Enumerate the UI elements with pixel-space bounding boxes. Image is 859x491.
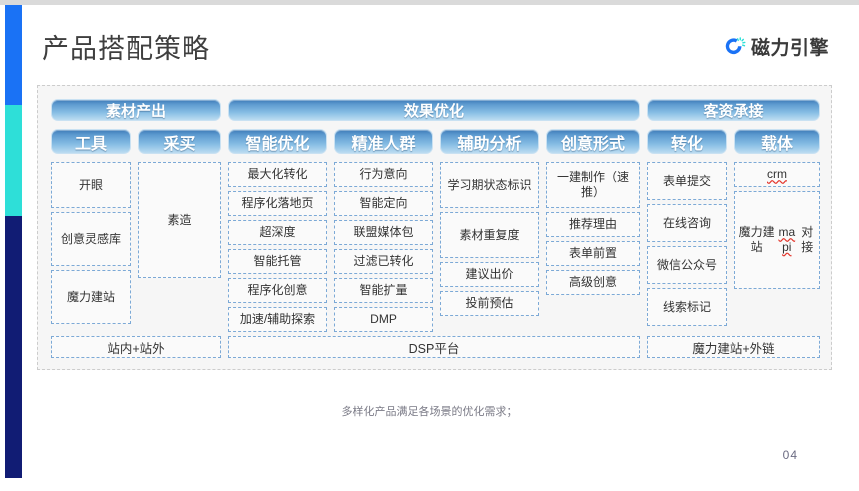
- group-header-material-output[interactable]: 素材产出: [51, 99, 221, 121]
- item-column-tools: 开眼创意灵感库魔力建站: [51, 162, 131, 324]
- matrix-item[interactable]: 微信公众号: [647, 246, 727, 284]
- subheader-creative-format[interactable]: 创意形式: [546, 129, 640, 154]
- slide-caption: 多样化产品满足各场景的优化需求；: [0, 403, 859, 419]
- matrix-item[interactable]: 一建制作（速推）: [546, 162, 640, 208]
- matrix-item[interactable]: 学习期状态标识: [440, 162, 539, 208]
- matrix-item[interactable]: 表单提交: [647, 162, 727, 200]
- matrix-item[interactable]: 素造: [138, 162, 221, 278]
- matrix-item[interactable]: 魔力建站mapi对接: [734, 191, 820, 289]
- matrix-item[interactable]: 过滤已转化: [334, 249, 433, 274]
- page-title: 产品搭配策略: [42, 27, 210, 66]
- item-column-carrier: crm魔力建站mapi对接: [734, 162, 820, 289]
- strategy-matrix-panel: 素材产出 效果优化 客资承接 工具 采买 智能优化 精准人群 辅助分析 创意形式…: [37, 85, 832, 370]
- slide-canvas: 产品搭配策略 磁力引擎 素材产出 效果优化 客资承接 工具 采买 智能优化 精准…: [0, 0, 859, 491]
- spellcheck-underlined-text: mapi: [776, 225, 797, 254]
- page-number: 04: [783, 448, 798, 462]
- matrix-item[interactable]: 智能扩量: [334, 278, 433, 303]
- item-column-precise-audience: 行为意向智能定向联盟媒体包过滤已转化智能扩量DMP: [334, 162, 433, 332]
- matrix-item[interactable]: DMP: [334, 307, 433, 332]
- kuaishou-ad-logo-icon: [723, 35, 746, 58]
- matrix-item[interactable]: crm: [734, 162, 820, 187]
- subheader-carrier[interactable]: 载体: [734, 129, 820, 154]
- matrix-item[interactable]: 表单前置: [546, 241, 640, 266]
- matrix-item[interactable]: 加速/辅助探索: [228, 307, 327, 332]
- matrix-item[interactable]: 线索标记: [647, 288, 727, 326]
- matrix-item[interactable]: 最大化转化: [228, 162, 327, 187]
- matrix-item[interactable]: 魔力建站: [51, 270, 131, 324]
- footer-bar-moli-site-external-link[interactable]: 魔力建站+外链: [647, 336, 820, 358]
- matrix-item[interactable]: 联盟媒体包: [334, 220, 433, 245]
- accent-bar-blue: [5, 5, 22, 105]
- matrix-item[interactable]: 智能定向: [334, 191, 433, 216]
- subheader-smart-optimization[interactable]: 智能优化: [228, 129, 327, 154]
- accent-bar-cyan: [5, 105, 22, 216]
- brand-lockup: 磁力引擎: [723, 33, 829, 60]
- slide-top-strip: [0, 0, 859, 5]
- accent-bar-navy: [5, 216, 22, 478]
- group-header-performance-optimization[interactable]: 效果优化: [228, 99, 640, 121]
- footer-bar-onsite-offsite[interactable]: 站内+站外: [51, 336, 221, 358]
- matrix-item[interactable]: 投前预估: [440, 291, 539, 316]
- subheader-precise-audience[interactable]: 精准人群: [334, 129, 433, 154]
- matrix-item[interactable]: 智能托管: [228, 249, 327, 274]
- matrix-item[interactable]: 程序化落地页: [228, 191, 327, 216]
- item-column-conversion: 表单提交在线咨询微信公众号线索标记: [647, 162, 727, 326]
- matrix-item[interactable]: 创意灵感库: [51, 212, 131, 266]
- matrix-item[interactable]: 开眼: [51, 162, 131, 208]
- matrix-item[interactable]: 在线咨询: [647, 204, 727, 242]
- subheader-purchase[interactable]: 采买: [138, 129, 221, 154]
- subheader-conversion[interactable]: 转化: [647, 129, 727, 154]
- matrix-item[interactable]: 行为意向: [334, 162, 433, 187]
- subheader-tools[interactable]: 工具: [51, 129, 131, 154]
- matrix-item[interactable]: 程序化创意: [228, 278, 327, 303]
- footer-bar-dsp-platform[interactable]: DSP平台: [228, 336, 640, 358]
- matrix-item[interactable]: 建议出价: [440, 262, 539, 287]
- subheader-assisted-analysis[interactable]: 辅助分析: [440, 129, 539, 154]
- brand-name: 磁力引擎: [751, 33, 829, 60]
- matrix-item[interactable]: 高级创意: [546, 270, 640, 295]
- item-column-creative-format: 一建制作（速推）推荐理由表单前置高级创意: [546, 162, 640, 295]
- matrix-item[interactable]: 素材重复度: [440, 212, 539, 258]
- matrix-item[interactable]: 超深度: [228, 220, 327, 245]
- spellcheck-underlined-text: crm: [767, 167, 787, 182]
- item-column-assisted-analysis: 学习期状态标识素材重复度建议出价投前预估: [440, 162, 539, 316]
- matrix-item[interactable]: 推荐理由: [546, 212, 640, 237]
- item-column-purchase: 素造: [138, 162, 221, 278]
- item-column-smart-optimization: 最大化转化程序化落地页超深度智能托管程序化创意加速/辅助探索: [228, 162, 327, 332]
- group-header-lead-acceptance[interactable]: 客资承接: [647, 99, 820, 121]
